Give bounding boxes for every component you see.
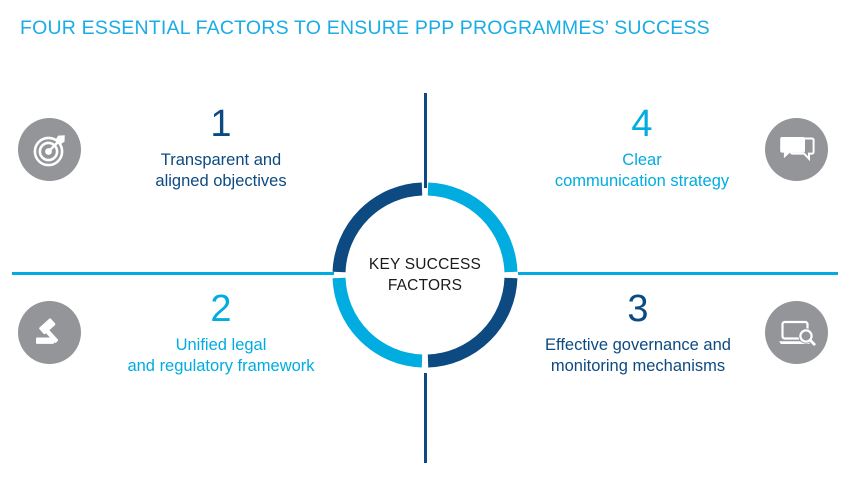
factor-4[interactable]: 4 Clear communication strategy <box>528 105 756 192</box>
target-icon <box>30 130 70 170</box>
factor-2-label: Unified legal and regulatory framework <box>108 335 334 377</box>
divider-vertical-bottom <box>424 373 427 463</box>
factor-1-label: Transparent and aligned objectives <box>110 150 332 192</box>
page-title: FOUR ESSENTIAL FACTORS TO ENSURE PPP PRO… <box>20 17 710 40</box>
factor-4-number: 4 <box>528 105 756 143</box>
infographic-canvas: FOUR ESSENTIAL FACTORS TO ENSURE PPP PRO… <box>0 0 850 481</box>
speech-bubbles-icon-badge <box>765 118 828 181</box>
laptop-search-icon <box>776 312 818 354</box>
factor-1-number: 1 <box>110 105 332 143</box>
divider-horizontal-left <box>12 272 334 275</box>
factor-4-label: Clear communication strategy <box>528 150 756 192</box>
factor-2[interactable]: 2 Unified legal and regulatory framework <box>108 290 334 377</box>
laptop-search-icon-badge <box>765 301 828 364</box>
speech-bubbles-icon <box>777 130 817 170</box>
center-label-line2: FACTORS <box>388 275 462 296</box>
center-label-line1: KEY SUCCESS <box>369 254 481 275</box>
factor-3-number: 3 <box>518 290 758 328</box>
divider-vertical-top <box>424 93 427 188</box>
factor-1[interactable]: 1 Transparent and aligned objectives <box>110 105 332 192</box>
factor-2-number: 2 <box>108 290 334 328</box>
divider-horizontal-right <box>518 272 838 275</box>
factor-3-label: Effective governance and monitoring mech… <box>518 335 758 377</box>
target-icon-badge <box>18 118 81 181</box>
factor-3[interactable]: 3 Effective governance and monitoring me… <box>518 290 758 377</box>
ring-center-label: KEY SUCCESS FACTORS <box>326 176 524 374</box>
gavel-icon-badge <box>18 301 81 364</box>
gavel-icon <box>30 313 70 353</box>
